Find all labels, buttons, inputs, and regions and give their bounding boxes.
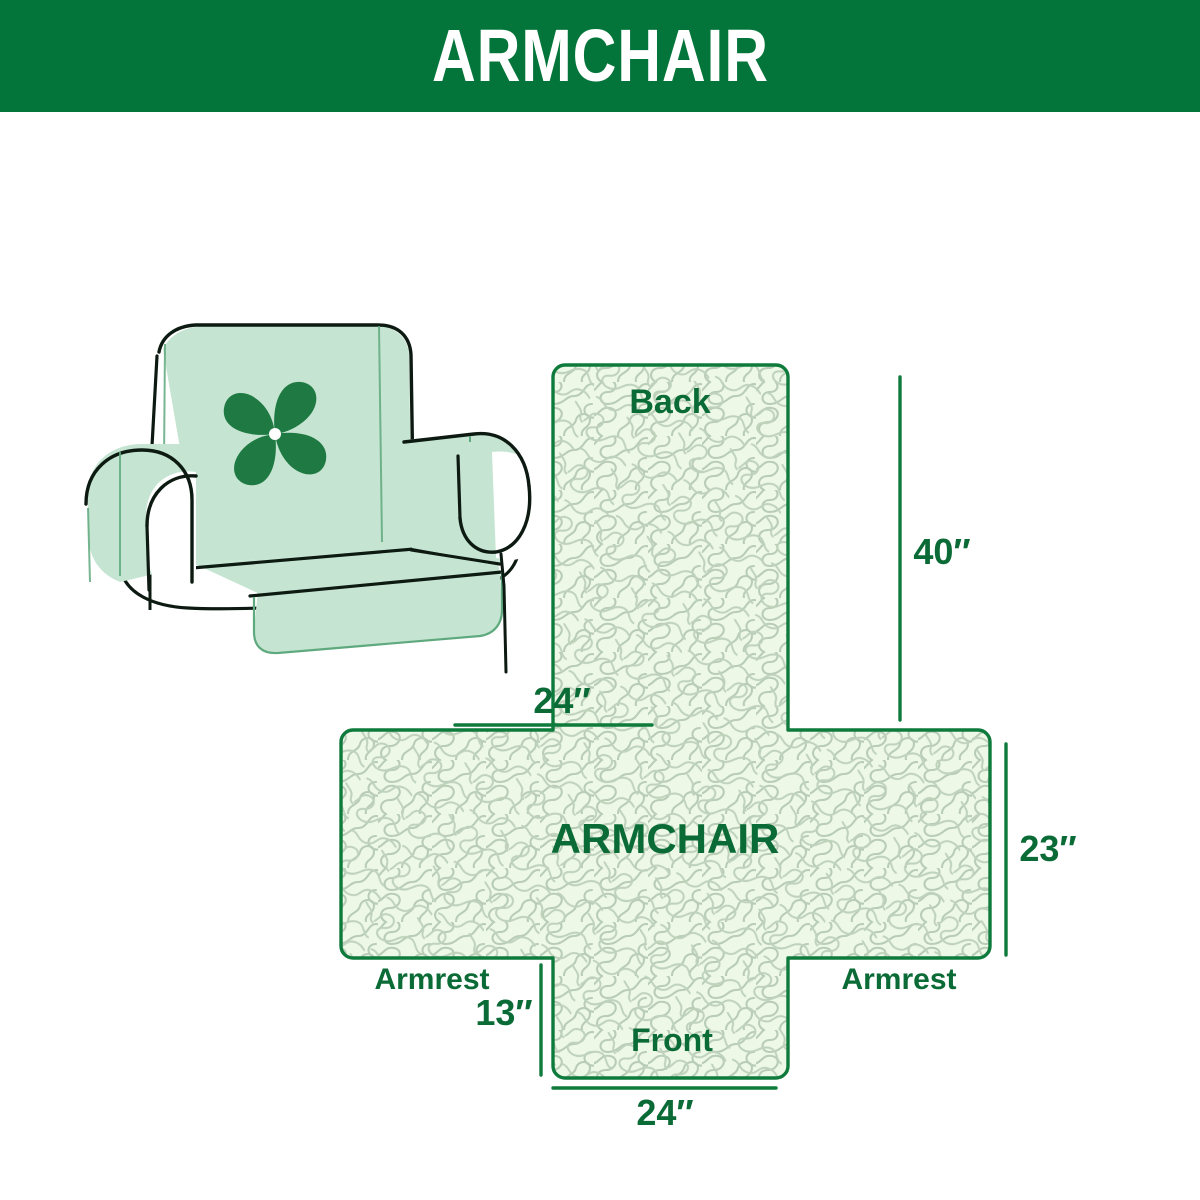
dimension-front-width: 24″ xyxy=(553,1088,776,1133)
panel-label-armrest-left: Armrest xyxy=(374,963,489,996)
panel-label-armrest-right: Armrest xyxy=(841,963,956,996)
dimension-body-height-value: 23″ xyxy=(1019,828,1076,869)
panel-label-front: Front xyxy=(631,1022,713,1058)
dimension-back-width-value: 24″ xyxy=(533,680,590,721)
dimension-body-height: 23″ xyxy=(1006,744,1077,955)
dimension-front-width-value: 24″ xyxy=(636,1092,693,1133)
panel-label-back: Back xyxy=(629,383,710,421)
armchair-illustration xyxy=(86,325,553,672)
diagram-canvas: Back ARMCHAIR Armrest Armrest Front 40″ … xyxy=(0,112,1200,1200)
armchair-left-armrest xyxy=(86,444,196,594)
header-banner: ARMCHAIR xyxy=(0,0,1200,112)
dimension-front-height-value: 13″ xyxy=(475,992,532,1033)
page-title: ARMCHAIR xyxy=(432,19,769,93)
dimension-back-height: 40″ xyxy=(900,377,971,720)
armchair-diagram: Back ARMCHAIR Armrest Armrest Front 40″ … xyxy=(0,112,1200,1200)
dimension-back-height-value: 40″ xyxy=(913,531,970,572)
panel-label-center: ARMCHAIR xyxy=(551,815,780,862)
